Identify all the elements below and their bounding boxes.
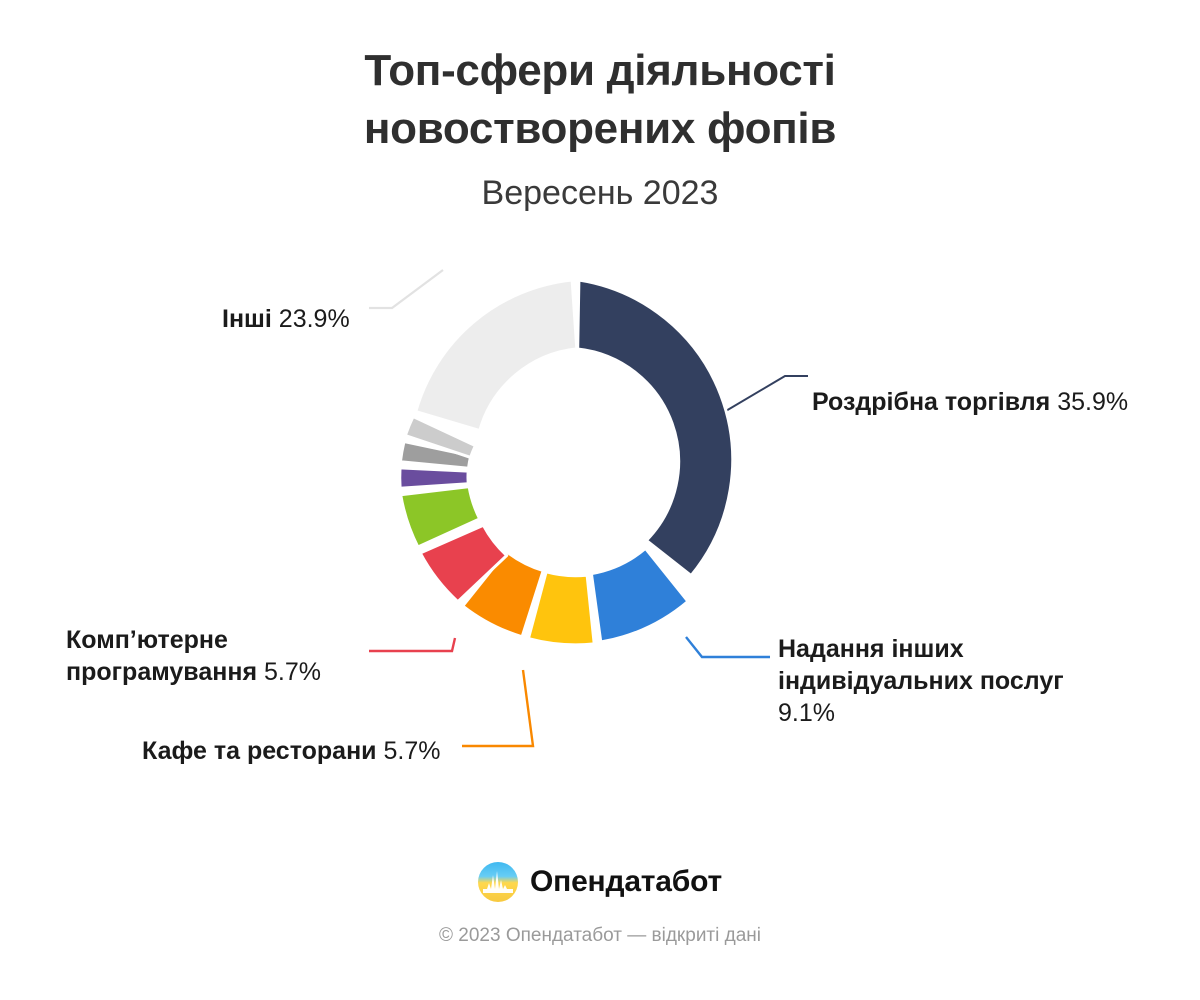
leader-line-services	[686, 637, 770, 657]
brand-lockup: Опендатабот	[0, 862, 1200, 902]
callout-services-percent: 9.1%	[778, 699, 835, 727]
brand-name: Опендатабот	[530, 865, 722, 899]
callout-other: Інші 23.9%	[222, 303, 350, 335]
callout-other-name: Інші	[222, 305, 272, 333]
donut-segments	[400, 280, 733, 645]
donut-slice-retail[interactable]	[578, 280, 733, 576]
donut-slice-other[interactable]	[416, 280, 577, 431]
copyright-text: © 2023 Опендатабот — відкриті дані	[0, 925, 1200, 947]
callout-retail-percent: 35.9%	[1057, 388, 1128, 416]
callout-other-percent: 23.9%	[279, 305, 350, 333]
leader-line-food	[462, 670, 533, 746]
callout-it: Комп’ютерне програмування 5.7%	[66, 624, 396, 688]
callout-services: Надання інших індивідуальних послуг 9.1%	[778, 633, 1068, 729]
donut-slice-purple[interactable]	[400, 468, 468, 488]
callout-it-percent: 5.7%	[264, 658, 321, 686]
page-subtitle: Вересень 2023	[0, 174, 1200, 213]
header: Топ-сфери діяльності новостворених фопів…	[0, 0, 1200, 213]
leader-line-other	[369, 270, 443, 308]
callout-retail: Роздрібна торгівля 35.9%	[812, 386, 1128, 418]
opendatabot-logo-icon	[478, 862, 518, 902]
callout-services-name: Надання інших індивідуальних послуг	[778, 635, 1064, 695]
callout-food-name: Кафе та ресторани	[142, 737, 377, 765]
callout-food-percent: 5.7%	[384, 737, 441, 765]
page-title: Топ-сфери діяльності новостворених фопів	[240, 42, 960, 158]
leader-line-retail	[714, 376, 808, 418]
callout-food: Кафе та ресторани 5.7%	[142, 735, 440, 767]
callout-it-name: Комп’ютерне програмування	[66, 626, 257, 686]
infographic-page: Топ-сфери діяльності новостворених фопів…	[0, 0, 1200, 1000]
callout-retail-name: Роздрібна торгівля	[812, 388, 1050, 416]
